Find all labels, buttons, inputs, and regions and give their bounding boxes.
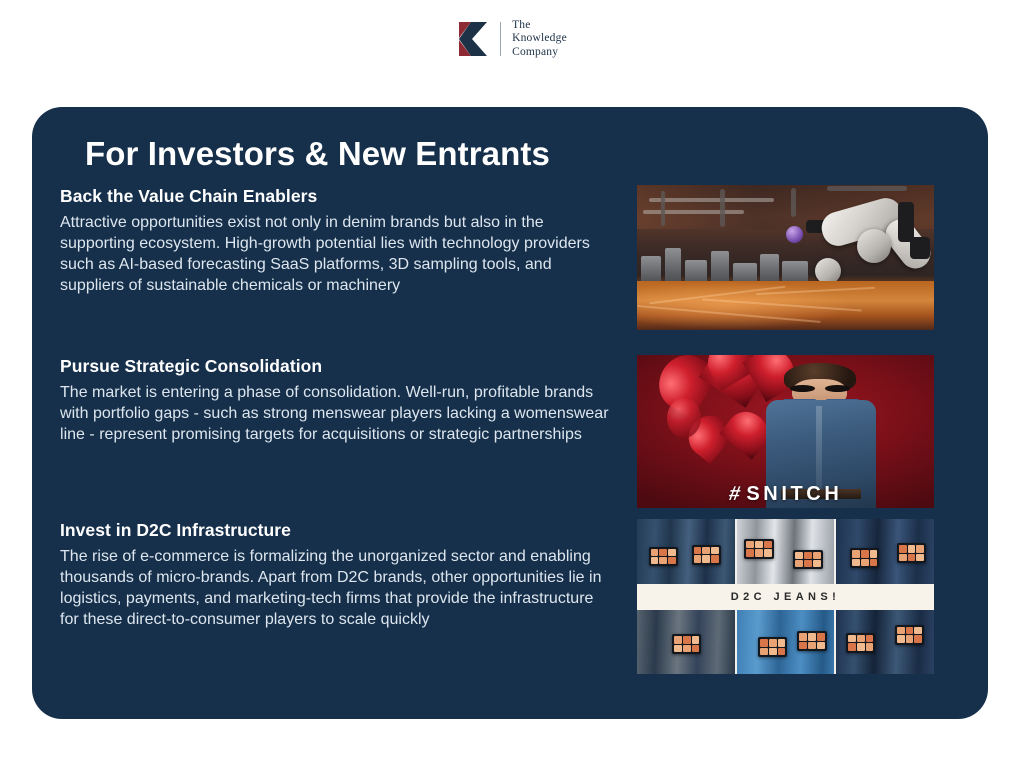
price-tag: [649, 547, 678, 567]
tag-swatch: [866, 635, 874, 642]
tag-swatch: [795, 552, 803, 559]
tag-swatch: [817, 642, 825, 649]
section-text-column: Pursue Strategic Consolidation The marke…: [60, 355, 615, 445]
brand-line-2: Knowledge: [512, 32, 567, 46]
tag-swatch: [692, 645, 700, 652]
tag-swatch: [906, 635, 914, 642]
tag-swatch: [659, 557, 667, 564]
tag-swatch: [683, 636, 691, 643]
tag-swatch: [908, 545, 916, 552]
price-tag: [897, 543, 926, 563]
tag-swatch: [674, 645, 682, 652]
tag-swatch: [808, 642, 816, 649]
tag-swatch: [769, 639, 777, 646]
section-body: The market is entering a phase of consol…: [60, 382, 615, 445]
price-tag: [672, 634, 701, 654]
tag-swatch: [795, 560, 803, 567]
factory-beam: [649, 198, 774, 202]
factory-pipe: [827, 186, 907, 191]
price-tag: [797, 631, 826, 651]
d2c-jeans-banner: D2C JEANS!: [637, 584, 934, 610]
section-body: The rise of e-commerce is formalizing th…: [60, 546, 615, 630]
snitch-denim-campaign-photo: #SNITCH: [637, 355, 934, 508]
section-text-column: Invest in D2C Infrastructure The rise of…: [60, 519, 615, 630]
tag-swatch: [694, 555, 702, 562]
jeans-collage-grid: D2C JEANS!: [637, 519, 934, 674]
section-text-column: Back the Value Chain Enablers Attractive…: [60, 185, 615, 296]
tag-swatch: [668, 549, 676, 556]
brand-line-3: Company: [512, 46, 567, 60]
tag-swatch: [848, 643, 856, 650]
tag-swatch: [764, 549, 772, 556]
chevron-k-logo-icon: [457, 20, 493, 58]
tag-swatch: [899, 545, 907, 552]
tag-swatch: [866, 643, 874, 650]
tag-swatch: [804, 560, 812, 567]
tag-swatch: [870, 559, 878, 566]
brand-divider: [500, 22, 501, 56]
tag-swatch: [916, 554, 924, 561]
section-body: Attractive opportunities exist not only …: [60, 212, 615, 296]
factory-pipe: [720, 189, 725, 227]
tag-swatch: [668, 557, 676, 564]
brand-header: The Knowledge Company: [0, 13, 1024, 65]
robot-base-joint: [815, 258, 841, 284]
snitch-wordmark: SNITCH: [746, 483, 842, 505]
tag-swatch: [760, 648, 768, 655]
hash-icon: #: [727, 483, 746, 506]
balloon: [667, 398, 701, 438]
d2c-jeans-banner-text: D2C JEANS!: [731, 591, 840, 603]
tag-swatch: [683, 645, 691, 652]
tag-swatch: [914, 635, 922, 642]
tag-swatch: [746, 549, 754, 556]
robot-controller: [910, 237, 930, 259]
tag-swatch: [804, 552, 812, 559]
tag-swatch: [897, 627, 905, 634]
snitch-logo-overlay: #SNITCH: [637, 483, 934, 506]
tag-swatch: [817, 633, 825, 640]
tag-swatch: [906, 627, 914, 634]
sunglasses-icon: [790, 385, 850, 392]
tag-swatch: [746, 541, 754, 548]
section-heading: Invest in D2C Infrastructure: [60, 520, 615, 541]
tag-swatch: [674, 636, 682, 643]
tag-swatch: [711, 547, 719, 554]
factory-indicator-light: [786, 226, 803, 243]
tag-swatch: [702, 547, 710, 554]
page-title: For Investors & New Entrants: [85, 135, 550, 173]
brand-line-1: The: [512, 19, 567, 33]
d2c-jeans-collage-photo: D2C JEANS!: [637, 519, 934, 674]
tag-swatch: [852, 550, 860, 557]
tag-swatch: [916, 545, 924, 552]
tag-swatch: [861, 559, 869, 566]
factory-robot-illustration: [637, 185, 934, 330]
tag-swatch: [914, 627, 922, 634]
tag-swatch: [870, 550, 878, 557]
tag-swatch: [799, 642, 807, 649]
tag-swatch: [651, 549, 659, 556]
tag-swatch: [651, 557, 659, 564]
tag-swatch: [659, 549, 667, 556]
tag-swatch: [857, 635, 865, 642]
tag-swatch: [848, 635, 856, 642]
factory-beam: [643, 210, 744, 214]
fabric-fold: [702, 299, 862, 312]
brand-wordmark: The Knowledge Company: [508, 19, 567, 60]
sections-container: Back the Value Chain Enablers Attractive…: [32, 185, 988, 719]
tag-swatch: [799, 633, 807, 640]
tag-swatch: [755, 541, 763, 548]
price-tag: [850, 548, 879, 568]
tag-swatch: [897, 635, 905, 642]
tag-swatch: [813, 552, 821, 559]
tag-swatch: [755, 549, 763, 556]
tag-swatch: [711, 555, 719, 562]
tag-swatch: [908, 554, 916, 561]
price-tag: [793, 550, 822, 570]
brand-lockup: The Knowledge Company: [457, 19, 567, 60]
section-back-the-value-chain-enablers: Back the Value Chain Enablers Attractive…: [60, 185, 960, 330]
heart-balloon: [706, 422, 752, 464]
tag-swatch: [857, 643, 865, 650]
section-heading: Pursue Strategic Consolidation: [60, 356, 615, 377]
tag-swatch: [764, 541, 772, 548]
fabric-fold: [637, 305, 821, 323]
tag-swatch: [778, 648, 786, 655]
tag-swatch: [702, 555, 710, 562]
price-tag: [758, 637, 787, 657]
tag-swatch: [861, 550, 869, 557]
price-tag: [895, 625, 924, 645]
tag-swatch: [852, 559, 860, 566]
tag-swatch: [769, 648, 777, 655]
tag-swatch: [692, 636, 700, 643]
price-tag: [744, 539, 773, 559]
price-tag: [692, 545, 721, 565]
section-heading: Back the Value Chain Enablers: [60, 186, 615, 207]
factory-pipe: [791, 188, 796, 217]
sunglass-lens: [825, 385, 850, 392]
tag-swatch: [899, 554, 907, 561]
content-card: For Investors & New Entrants Back the Va…: [32, 107, 988, 719]
section-pursue-strategic-consolidation: Pursue Strategic Consolidation The marke…: [60, 355, 960, 508]
tag-swatch: [808, 633, 816, 640]
tag-swatch: [694, 547, 702, 554]
section-invest-in-d2c-infrastructure: Invest in D2C Infrastructure The rise of…: [60, 519, 960, 674]
tag-swatch: [813, 560, 821, 567]
factory-robot-photo: [637, 185, 934, 330]
snitch-campaign-illustration: #SNITCH: [637, 355, 934, 508]
tag-swatch: [760, 639, 768, 646]
robot-joint: [857, 229, 891, 263]
price-tag: [846, 633, 875, 653]
sunglass-lens: [790, 385, 815, 392]
factory-pipe: [661, 191, 665, 226]
slide-page: The Knowledge Company For Investors & Ne…: [0, 0, 1024, 768]
denim-fabric-on-table: [637, 281, 934, 330]
tag-swatch: [778, 639, 786, 646]
